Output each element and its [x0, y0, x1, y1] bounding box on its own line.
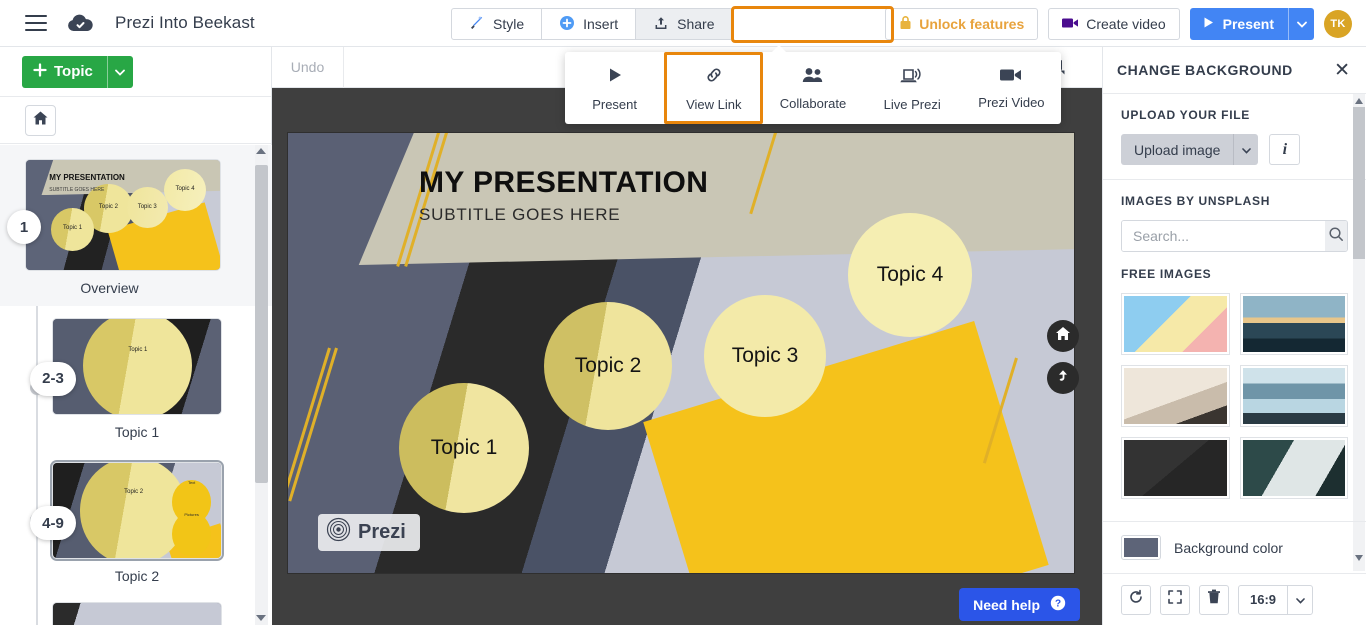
thumbnail-caption: Topic 2 [52, 568, 222, 584]
add-topic-caret[interactable] [107, 56, 133, 88]
upload-dropdown-caret[interactable] [1233, 134, 1258, 165]
thumb-subtitle: SUBTITLE GOES HERE [49, 187, 104, 193]
free-image-mountain-sunrise[interactable] [1240, 293, 1349, 355]
video-camera-icon [1062, 16, 1079, 32]
svg-text:?: ? [1055, 599, 1061, 610]
need-help-label: Need help [973, 597, 1040, 613]
thumbnail-badge: 4-9 [30, 506, 76, 540]
share-item-present[interactable]: Present [565, 52, 664, 124]
slide-topic-4[interactable]: Topic 4 [848, 213, 972, 337]
unlock-features-label: Unlock features [919, 16, 1024, 32]
free-images-label: FREE IMAGES [1121, 267, 1348, 281]
free-image-bokeh-water[interactable] [1240, 365, 1349, 427]
prezi-logo-label: Prezi [358, 521, 406, 544]
canvas-background[interactable]: MY PRESENTATION SUBTITLE GOES HERE Topic… [272, 88, 1102, 625]
lock-icon [899, 15, 912, 33]
free-images-grid [1121, 293, 1348, 499]
slide-topic-3[interactable]: Topic 3 [704, 295, 826, 417]
slide-subtitle[interactable]: SUBTITLE GOES HERE [419, 205, 620, 225]
insert-label: Insert [583, 16, 618, 32]
background-color-label: Background color [1174, 540, 1283, 556]
share-upload-icon [653, 15, 669, 34]
search-input[interactable] [1122, 221, 1325, 251]
scroll-down-arrow-icon[interactable] [256, 615, 266, 621]
share-dropdown-menu: Present View Link Collaborate Live Prezi… [565, 52, 1061, 124]
home-icon [32, 110, 49, 131]
slide-title[interactable]: MY PRESENTATION [419, 166, 708, 200]
thumbnail-image[interactable]: Topic 2 Text Pictures [52, 462, 222, 559]
thumbnail-badge: 1 [7, 210, 41, 244]
magic-wand-icon [469, 15, 485, 34]
share-item-label: Present [592, 97, 637, 112]
laptop-broadcast-icon [900, 65, 924, 88]
canvas-nav-controls [1047, 320, 1079, 394]
slide-topic-1[interactable]: Topic 1 [399, 383, 529, 513]
present-button-group: Present [1190, 8, 1314, 40]
share-item-collaborate[interactable]: Collaborate [763, 52, 862, 124]
share-item-view-link[interactable]: View Link [664, 52, 763, 124]
search-icon [1328, 226, 1344, 247]
panel-scrollbar-thumb[interactable] [1353, 107, 1365, 259]
canvas-home-button[interactable] [1047, 320, 1079, 352]
slide-topic-label: Topic 3 [732, 344, 799, 368]
reset-button[interactable] [1121, 585, 1151, 615]
slide-topic-label: Topic 1 [431, 436, 498, 460]
back-up-arrow-icon [1055, 368, 1071, 389]
share-button[interactable]: Share [636, 8, 732, 40]
style-button[interactable]: Style [451, 8, 542, 40]
search-button[interactable] [1325, 221, 1347, 251]
home-icon [1055, 326, 1071, 346]
add-topic-button-group: Topic [22, 56, 133, 88]
share-item-live-prezi[interactable]: Live Prezi [863, 52, 962, 124]
add-topic-button[interactable]: Topic [22, 63, 107, 81]
need-help-button[interactable]: Need help ? [959, 588, 1080, 621]
center-toolbar: Style Insert Share [451, 8, 733, 40]
thumbnail-badge: 2-3 [30, 362, 76, 396]
thumbnail-next[interactable] [52, 602, 222, 625]
timeline-rail [36, 594, 38, 625]
plus-circle-icon [559, 15, 575, 34]
top-bar: Prezi Into Beekast Style Insert Share [0, 0, 1366, 47]
trash-icon [1207, 589, 1221, 610]
thumbnail-block-next [0, 594, 272, 625]
share-item-label: Live Prezi [884, 97, 941, 112]
slide-topic-2[interactable]: Topic 2 [544, 302, 672, 430]
free-image-runner-concrete[interactable] [1240, 437, 1349, 499]
thumbnail-block-topic-1: Topic 1 2-3 Topic 1 [0, 306, 272, 450]
info-button[interactable]: i [1269, 134, 1300, 165]
thumbnail-topic-2[interactable]: Topic 2 Text Pictures 4-9 Topic 2 [52, 462, 222, 584]
cloud-saved-icon [67, 14, 93, 33]
play-icon [1202, 16, 1215, 32]
sidebar-home-row [0, 97, 271, 144]
thumb-title: MY PRESENTATION [49, 173, 125, 182]
upload-button-group: Upload image [1121, 134, 1258, 165]
hamburger-menu-icon[interactable] [25, 15, 47, 31]
thumbnail-overview[interactable]: Topic 2 Topic 3 Topic 4 Topic 1 MY PRESE… [25, 159, 221, 296]
plus-icon [33, 63, 47, 81]
play-icon [605, 65, 625, 88]
scroll-up-arrow-icon[interactable] [256, 148, 266, 154]
free-image-pastel-geometric[interactable] [1121, 293, 1230, 355]
change-background-panel: CHANGE BACKGROUND ✕ UPLOAD YOUR FILE Upl… [1102, 47, 1366, 625]
close-icon[interactable]: ✕ [1334, 61, 1350, 80]
thumbnail-image[interactable]: Topic 1 [52, 318, 222, 415]
left-sidebar: Topic [0, 47, 272, 625]
video-camera-icon [999, 67, 1023, 86]
chevron-down-icon [1297, 15, 1307, 33]
slide-topic-label: Topic 4 [877, 263, 944, 287]
free-image-dark-texture[interactable] [1121, 437, 1230, 499]
thumbnail-list[interactable]: Topic 2 Topic 3 Topic 4 Topic 1 MY PRESE… [0, 145, 272, 625]
people-icon [801, 66, 825, 87]
upload-section-label: UPLOAD YOUR FILE [1121, 108, 1348, 122]
panel-title: CHANGE BACKGROUND [1117, 62, 1293, 78]
panel-bottom-bar: 16:9 [1103, 573, 1366, 625]
aspect-ratio-button[interactable]: 16:9 [1239, 586, 1287, 614]
thumbnail-image[interactable] [52, 602, 222, 625]
thumbnail-image[interactable]: Topic 2 Topic 3 Topic 4 Topic 1 MY PRESE… [25, 159, 221, 271]
unsplash-search-row [1121, 220, 1348, 252]
fit-screen-icon [1167, 589, 1183, 610]
share-item-label: View Link [686, 97, 741, 112]
thumbnail-caption: Topic 1 [52, 424, 222, 440]
chevron-down-icon [1242, 141, 1251, 159]
style-label: Style [493, 16, 524, 32]
thumbnail-block-topic-2: Topic 2 Text Pictures 4-9 Topic 2 [0, 450, 272, 594]
prezi-logo-badge[interactable]: Prezi [318, 514, 420, 551]
presentation-slide[interactable]: MY PRESENTATION SUBTITLE GOES HERE Topic… [288, 133, 1074, 573]
insert-button[interactable]: Insert [542, 8, 636, 40]
reset-icon [1128, 589, 1144, 610]
free-image-foggy-hillside[interactable] [1121, 365, 1230, 427]
present-label: Present [1223, 16, 1274, 32]
right-toolbar: Unlock features Create video Present [885, 8, 1352, 40]
share-item-prezi-video[interactable]: Prezi Video [962, 52, 1061, 124]
add-topic-row: Topic [0, 47, 271, 97]
create-video-label: Create video [1086, 16, 1165, 32]
canvas-area: Undo MY PRESENTATION SUBTITLE GOES HERE [272, 47, 1102, 625]
present-dropdown-caret[interactable] [1288, 8, 1314, 40]
aspect-ratio-group: 16:9 [1238, 585, 1313, 615]
background-color-swatch[interactable] [1121, 535, 1161, 560]
unlock-features-button[interactable]: Unlock features [885, 8, 1038, 40]
user-avatar[interactable]: TK [1324, 10, 1352, 38]
thumbnail-topic-1[interactable]: Topic 1 2-3 Topic 1 [52, 318, 222, 440]
panel-header: CHANGE BACKGROUND ✕ [1103, 47, 1366, 94]
link-icon [704, 65, 724, 88]
add-topic-label: Topic [54, 63, 93, 80]
upload-section: UPLOAD YOUR FILE Upload image i [1103, 94, 1366, 179]
question-mark-icon: ? [1050, 595, 1066, 614]
thumb-circle-topic-3: Topic 3 [127, 187, 168, 228]
panel-scroll-up-arrow-icon[interactable] [1355, 98, 1363, 104]
share-item-label: Collaborate [780, 96, 847, 111]
delete-button[interactable] [1199, 585, 1229, 615]
canvas-back-button[interactable] [1047, 362, 1079, 394]
prezi-logo-icon [326, 517, 351, 548]
share-item-label: Prezi Video [978, 95, 1044, 110]
background-color-row: Background color [1103, 521, 1366, 573]
thumb-chip-pictures: Pictures [172, 512, 211, 556]
share-highlight-box [731, 6, 894, 43]
sidebar-scrollbar-thumb[interactable] [255, 165, 268, 483]
share-label: Share [677, 16, 714, 32]
present-button[interactable]: Present [1190, 8, 1288, 40]
create-video-button[interactable]: Create video [1048, 8, 1179, 40]
unsplash-section-label: IMAGES BY UNSPLASH [1121, 194, 1348, 208]
unsplash-section: IMAGES BY UNSPLASH FREE IMAGES [1103, 180, 1366, 513]
upload-image-button[interactable]: Upload image [1121, 134, 1233, 165]
undo-button[interactable]: Undo [272, 47, 344, 88]
home-button[interactable] [25, 105, 56, 136]
document-title[interactable]: Prezi Into Beekast [115, 13, 255, 33]
chevron-down-icon [115, 63, 125, 81]
thumbnail-block-overview: Topic 2 Topic 3 Topic 4 Topic 1 MY PRESE… [0, 145, 272, 306]
slide-topic-label: Topic 2 [575, 354, 642, 378]
fit-screen-button[interactable] [1160, 585, 1190, 615]
thumb-circle-topic-1: Topic 1 [51, 208, 94, 251]
chevron-down-icon [1296, 591, 1305, 609]
aspect-ratio-caret[interactable] [1287, 586, 1312, 614]
thumbnail-caption: Overview [0, 280, 221, 296]
